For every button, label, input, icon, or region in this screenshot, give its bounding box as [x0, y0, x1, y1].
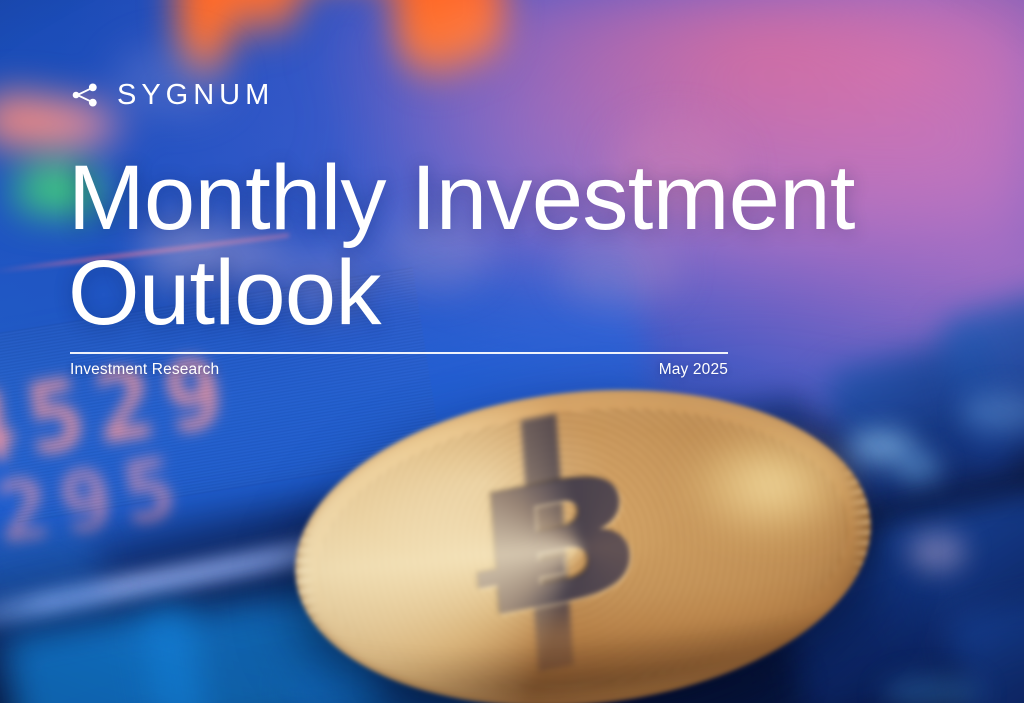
brand-lockup: SYGNUM — [70, 80, 274, 110]
page-title-line-1: Monthly Investment — [68, 151, 828, 246]
cover-content: SYGNUM Monthly Investment Outlook Invest… — [0, 0, 1024, 703]
brand-wordmark: SYGNUM — [117, 81, 274, 110]
cover-meta: Investment Research May 2025 — [70, 352, 728, 379]
page-title: Monthly Investment Outlook — [68, 151, 828, 341]
meta-divider — [70, 352, 728, 354]
share-nodes-icon — [70, 80, 100, 110]
series-label: Investment Research — [70, 361, 219, 379]
issue-date: May 2025 — [659, 361, 728, 379]
cover-page: 4529 295 — [0, 0, 1024, 703]
page-title-line-2: Outlook — [68, 246, 828, 341]
